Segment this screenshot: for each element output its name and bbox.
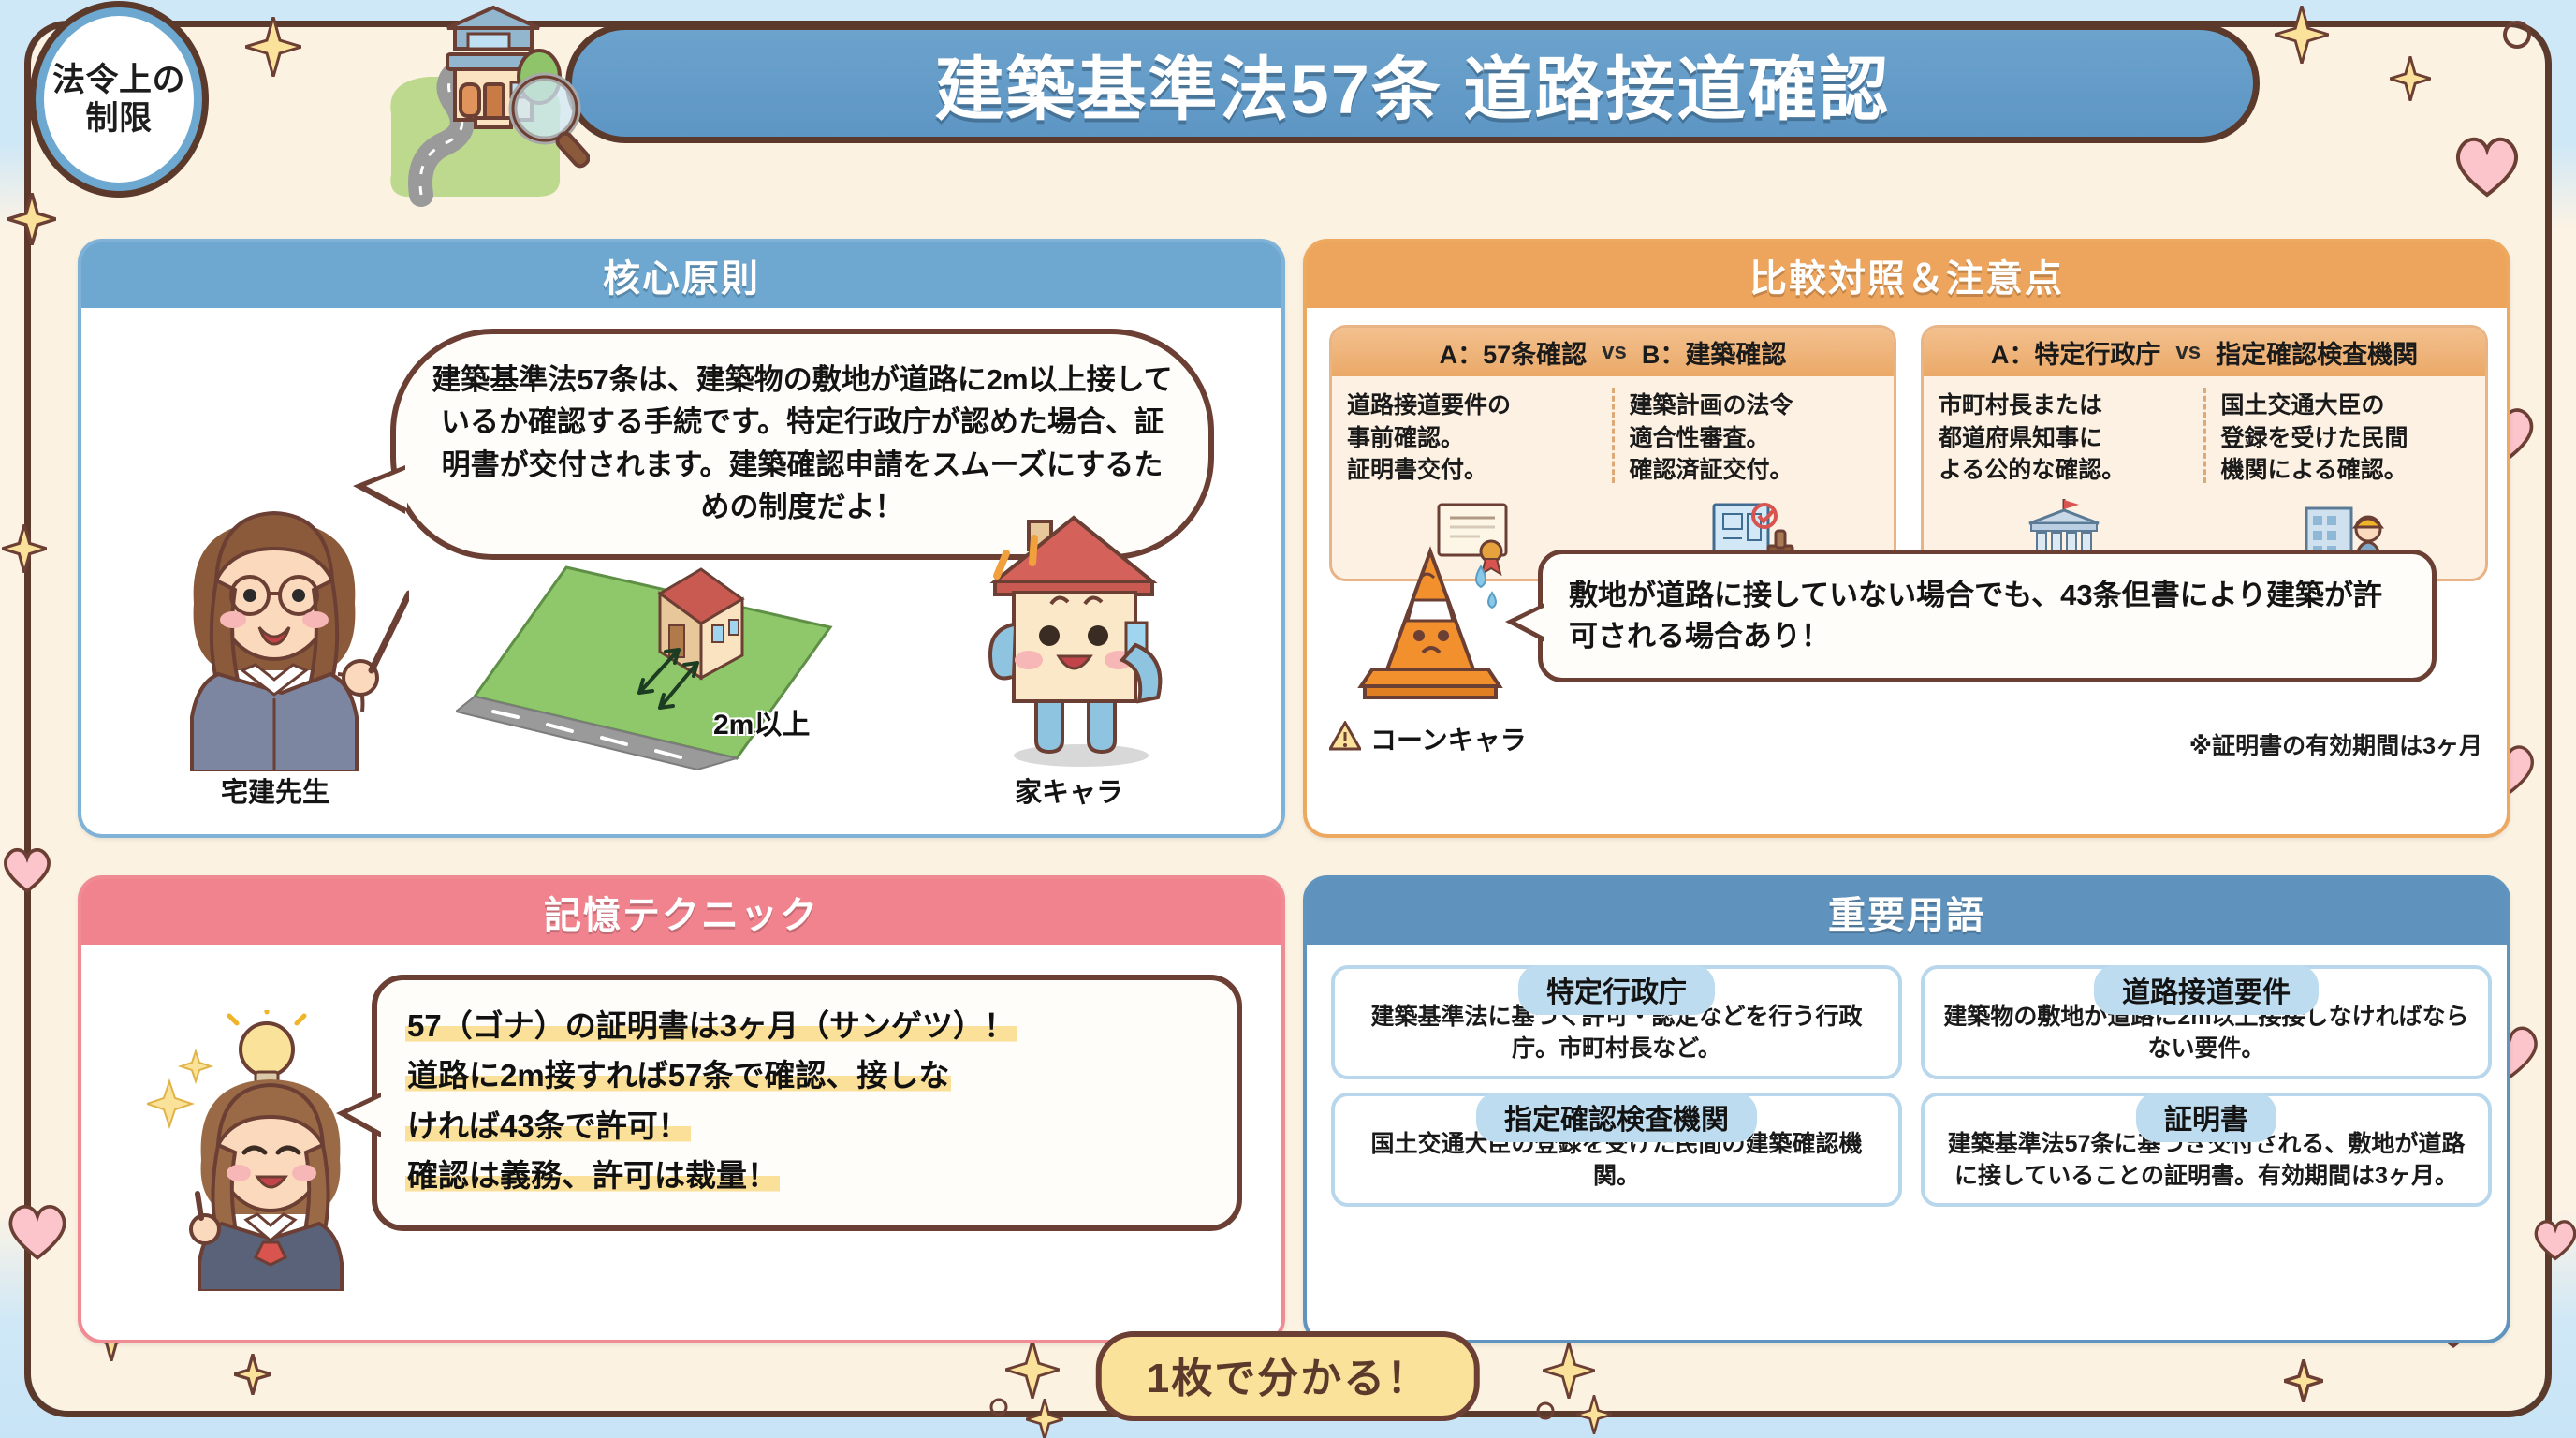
term-title: 道路接道要件 [2094, 965, 2319, 1015]
comparison-right-column: 建築計画の法令適合性審査。確認済証交付。 [1615, 376, 1895, 494]
footer-label: 1枚で分かる！ [1147, 1356, 1429, 1401]
memory-title: 記憶テクニック [544, 885, 819, 939]
teacher-speech-text: 建築基準法57条は、建築物の敷地が道路に2m以上接しているか確認する手続です。特… [428, 359, 1177, 528]
key-terms-panel: 重要用語 特定行政庁 建築基準法に基づく許可・認定などを行う行政庁。市町村長など… [1303, 875, 2510, 1343]
infographic-page: 法令上の制限 [0, 0, 2576, 1438]
header: 法令上の制限 [0, 0, 2576, 234]
page-title: 建築基準法57条 道路接道確認 [935, 34, 1891, 134]
memory-body: 57（ゴナ）の証明書は3ヶ月（サンゲツ）！ 道路に2m接すれば57条で確認、接し… [81, 945, 1281, 1340]
comparison-right-title: B：建築確認 [1642, 334, 1787, 371]
memory-line: 道路に2m接すれば57条で確認、接しな [405, 1050, 1208, 1100]
footer-banner: 1枚で分かる！ [1096, 1331, 1480, 1421]
mascot-label: 家キャラ [952, 770, 1186, 810]
key-terms-grid: 特定行政庁 建築基準法に基づく許可・認定などを行う行政庁。市町村長など。 道路接… [1331, 965, 2492, 1207]
house-on-lot-with-road [456, 547, 896, 771]
cone-caption: コーンキャラ [1329, 720, 1527, 757]
memory-technique-panel: 記憶テクニック [78, 875, 1285, 1343]
key-terms-title: 重要用語 [1828, 885, 1985, 939]
warning-text: 敷地が道路に接していない場合でも、43条但書により建築が許可される場合あり！ [1569, 575, 2406, 657]
comparison-note: ※証明書の有効期間は3ヶ月 [2189, 727, 2482, 761]
memory-line-text: 57（ゴナ）の証明書は3ヶ月（サンゲツ）！ [405, 1008, 1017, 1043]
warning-tail-inner [1515, 607, 1545, 638]
comparison-left-body: 市町村長または都道府県知事による公的な確認。 [1939, 389, 2188, 487]
term-card: 指定確認検査機関 国土交通大臣の登録を受けた民間の建築確認機関。 [1331, 1093, 1902, 1207]
memory-line-text: 道路に2m接すれば57条で確認、接しな [405, 1058, 951, 1093]
teacher-character [138, 491, 409, 771]
term-card: 道路接道要件 建築物の敷地が道路に2m以上接接しなければならない要件。 [1921, 965, 2492, 1079]
comparison-right-column: 国土交通大臣の登録を受けた民間機関による確認。 [2206, 376, 2486, 494]
key-terms-header: 重要用語 [1307, 879, 2507, 945]
cone-label: コーンキャラ [1370, 720, 1527, 757]
comparison-card-header: A：57条確認 vs B：建築確認 [1332, 328, 1894, 376]
memory-line: ければ43条で許可！ [405, 1101, 1208, 1151]
distance-label: 2m以上 [713, 701, 810, 742]
comparison-header: 比較対照＆注意点 [1307, 242, 2507, 308]
vs-label: vs [1602, 339, 1627, 365]
title-banner: 建築基準法57条 道路接道確認 [565, 23, 2260, 143]
teacher-label: 宅建先生 [168, 770, 383, 810]
memory-line: 57（ゴナ）の証明書は3ヶ月（サンゲツ）！ [405, 1001, 1208, 1050]
comparison-left-title: A：特定行政庁 [1991, 334, 2161, 371]
comparison-right-title: 指定確認検査機関 [2216, 334, 2418, 371]
memory-speech-bubble: 57（ゴナ）の証明書は3ヶ月（サンゲツ）！ 道路に2m接すれば57条で確認、接し… [372, 975, 1242, 1231]
warning-triangle-icon [1329, 721, 1361, 757]
term-card: 証明書 建築基準法57条に基づき交付される、敷地が道路に接していることの証明書。… [1921, 1093, 2492, 1207]
vs-label: vs [2175, 339, 2201, 365]
comparison-right-body: 建築計画の法令適合性審査。確認済証交付。 [1630, 389, 1880, 487]
category-badge: 法令上の制限 [36, 7, 202, 191]
term-title: 特定行政庁 [1518, 965, 1715, 1015]
comparison-left-body: 道路接道要件の事前確認。証明書交付。 [1347, 389, 1597, 487]
house-road-magnifier-illustration [281, 4, 590, 228]
comparison-left-column: 市町村長または都道府県知事による公的な確認。 [1924, 376, 2203, 494]
term-card: 特定行政庁 建築基準法に基づく許可・認定などを行う行政庁。市町村長など。 [1331, 965, 1902, 1079]
core-principle-header: 核心原則 [81, 242, 1281, 308]
key-terms-body: 特定行政庁 建築基準法に基づく許可・認定などを行う行政庁。市町村長など。 道路接… [1307, 945, 2507, 1340]
category-badge-label: 法令上の制限 [52, 61, 185, 139]
term-title: 指定確認検査機関 [1476, 1093, 1757, 1142]
core-principle-body: 建築基準法57条は、建築物の敷地が道路に2m以上接しているか確認する手続です。特… [81, 308, 1281, 834]
comparison-right-body: 国土交通大臣の登録を受けた民間機関による確認。 [2221, 389, 2471, 487]
student-character-with-lightbulb [147, 1010, 386, 1291]
memory-tail-inner [347, 1097, 381, 1132]
warning-row: 敷地が道路に接していない場合でも、43条但書により建築が許可される場合あり！ [1329, 542, 2481, 706]
house-mascot-character [924, 505, 1205, 776]
memory-header: 記憶テクニック [81, 879, 1281, 945]
term-title: 証明書 [2136, 1093, 2276, 1142]
memory-line: 確認は義務、許可は裁量！ [405, 1151, 1208, 1200]
memory-line-text: ければ43条で許可！ [405, 1108, 691, 1143]
memory-line-text: 確認は義務、許可は裁量！ [405, 1158, 780, 1193]
comparison-left-title: A：57条確認 [1440, 334, 1588, 371]
core-principle-title: 核心原則 [603, 248, 760, 302]
comparison-title: 比較対照＆注意点 [1749, 248, 2064, 302]
core-principle-panel: 核心原則 建築基準法57条は、建築物の敷地が道路に2m以上接しているか確認する手… [78, 239, 1285, 838]
comparison-columns: 道路接道要件の事前確認。証明書交付。 建築計画の法令適合性審査。確認済証交付。 [1332, 376, 1894, 494]
comparison-left-column: 道路接道要件の事前確認。証明書交付。 [1332, 376, 1612, 494]
comparison-panel: 比較対照＆注意点 A：57条確認 vs B：建築確認 道路接道要件の事前確認。証… [1303, 239, 2510, 838]
warning-speech-bubble: 敷地が道路に接していない場合でも、43条但書により建築が許可される場合あり！ [1538, 550, 2437, 682]
traffic-cone-character [1350, 542, 1514, 706]
comparison-card-header: A：特定行政庁 vs 指定確認検査機関 [1924, 328, 2485, 376]
comparison-columns: 市町村長または都道府県知事による公的な確認。 国土交通大臣の登録を受けた民間機関… [1924, 376, 2485, 494]
comparison-body: A：57条確認 vs B：建築確認 道路接道要件の事前確認。証明書交付。 建築計… [1307, 308, 2507, 834]
